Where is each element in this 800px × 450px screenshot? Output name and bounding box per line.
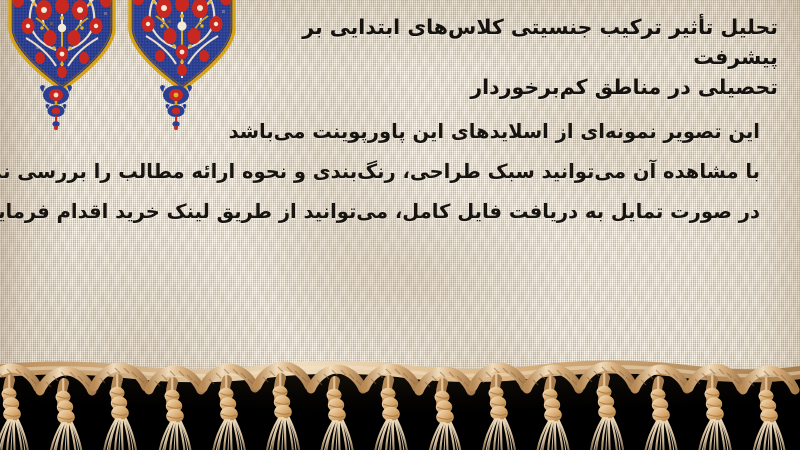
slide-title: تحلیل تأثیر ترکیب جنسیتی کلاس‌های ابتدای… bbox=[248, 12, 778, 102]
slide-body: این تصویر نمونه‌ای از اسلایدهای این پاور… bbox=[38, 112, 760, 232]
title-line-2: تحصیلی در مناطق کم‌برخوردار bbox=[248, 72, 778, 102]
slide-canvas: تحلیل تأثیر ترکیب جنسیتی کلاس‌های ابتدای… bbox=[0, 0, 800, 450]
body-line-1: این تصویر نمونه‌ای از اسلایدهای این پاور… bbox=[38, 112, 760, 152]
body-line-3: در صورت تمایل به دریافت فایل کامل، می‌تو… bbox=[38, 192, 760, 232]
persian-carpet-medallion-icon bbox=[126, 0, 238, 92]
top-left-motif-group bbox=[0, 0, 260, 112]
persian-carpet-medallion-icon bbox=[6, 0, 118, 92]
title-line-1: تحلیل تأثیر ترکیب جنسیتی کلاس‌های ابتدای… bbox=[248, 12, 778, 72]
body-line-2: با مشاهده آن می‌توانید سبک طراحی، رنگ‌بن… bbox=[38, 152, 760, 192]
carpet-fringe-icon bbox=[0, 358, 800, 450]
